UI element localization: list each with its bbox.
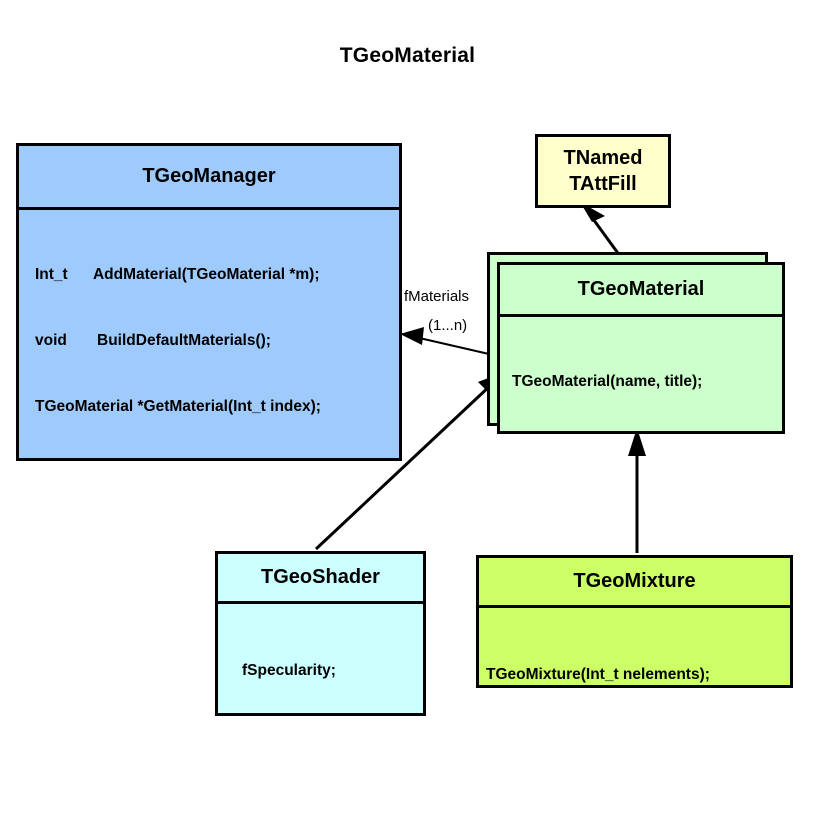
class-name-tgeomanager: TGeoManager [19, 146, 399, 210]
member-line: TGeoMaterial *GetMaterial(Int_t index); [35, 396, 399, 418]
class-box-tgeomaterial[interactable]: TGeoMaterial TGeoMaterial(name, title); … [497, 262, 785, 434]
class-name-tgeoshader: TGeoShader [218, 554, 423, 604]
class-name-tattfill: TAttFill [569, 171, 636, 197]
class-box-tgeoshader[interactable]: TGeoShader fSpecularity; fReflectivity; … [215, 551, 426, 716]
class-members-tgeomanager: Int_t AddMaterial(TGeoMaterial *m); void… [19, 210, 399, 461]
member-line: void BuildDefaultMaterials(); [35, 330, 399, 352]
class-name-tgeomaterial: TGeoMaterial [500, 265, 782, 317]
class-box-tgeomanager[interactable]: TGeoManager Int_t AddMaterial(TGeoMateri… [16, 143, 402, 461]
class-box-tgeomixture[interactable]: TGeoMixture TGeoMixture(Int_t nelements)… [476, 555, 793, 688]
class-members-tgeomaterial: TGeoMaterial(name, title); TGeoMaterial(… [500, 317, 782, 434]
class-members-tgeomixture: TGeoMixture(Int_t nelements); AddElement… [479, 608, 790, 688]
class-members-tgeoshader: fSpecularity; fReflectivity; fTransparen… [218, 604, 423, 716]
class-name-tgeomixture: TGeoMixture [479, 558, 790, 608]
class-name-tnamed: TNamed [564, 145, 643, 171]
association-multiplicity-label: (1...n) [428, 317, 467, 334]
member-line: fSpecularity; [242, 660, 423, 682]
arrow-mixture-to-material [628, 428, 646, 553]
member-line: Int_t AddMaterial(TGeoMaterial *m); [35, 264, 399, 286]
arrow-material-to-tnamed [580, 202, 620, 256]
association-role-label: fMaterials [404, 288, 469, 305]
class-box-tnamed-tattfill[interactable]: TNamed TAttFill [535, 134, 671, 208]
uml-diagram-canvas: TGeoMaterial TGeoMaterial (diagonal up-r… [0, 0, 815, 815]
class-name-stack: TNamed TAttFill [538, 137, 668, 205]
member-line: TGeoMixture(Int_t nelements); [486, 664, 790, 686]
page-title: TGeoMaterial [0, 44, 815, 68]
member-line: TGeoMaterial(name, title); [512, 371, 782, 393]
